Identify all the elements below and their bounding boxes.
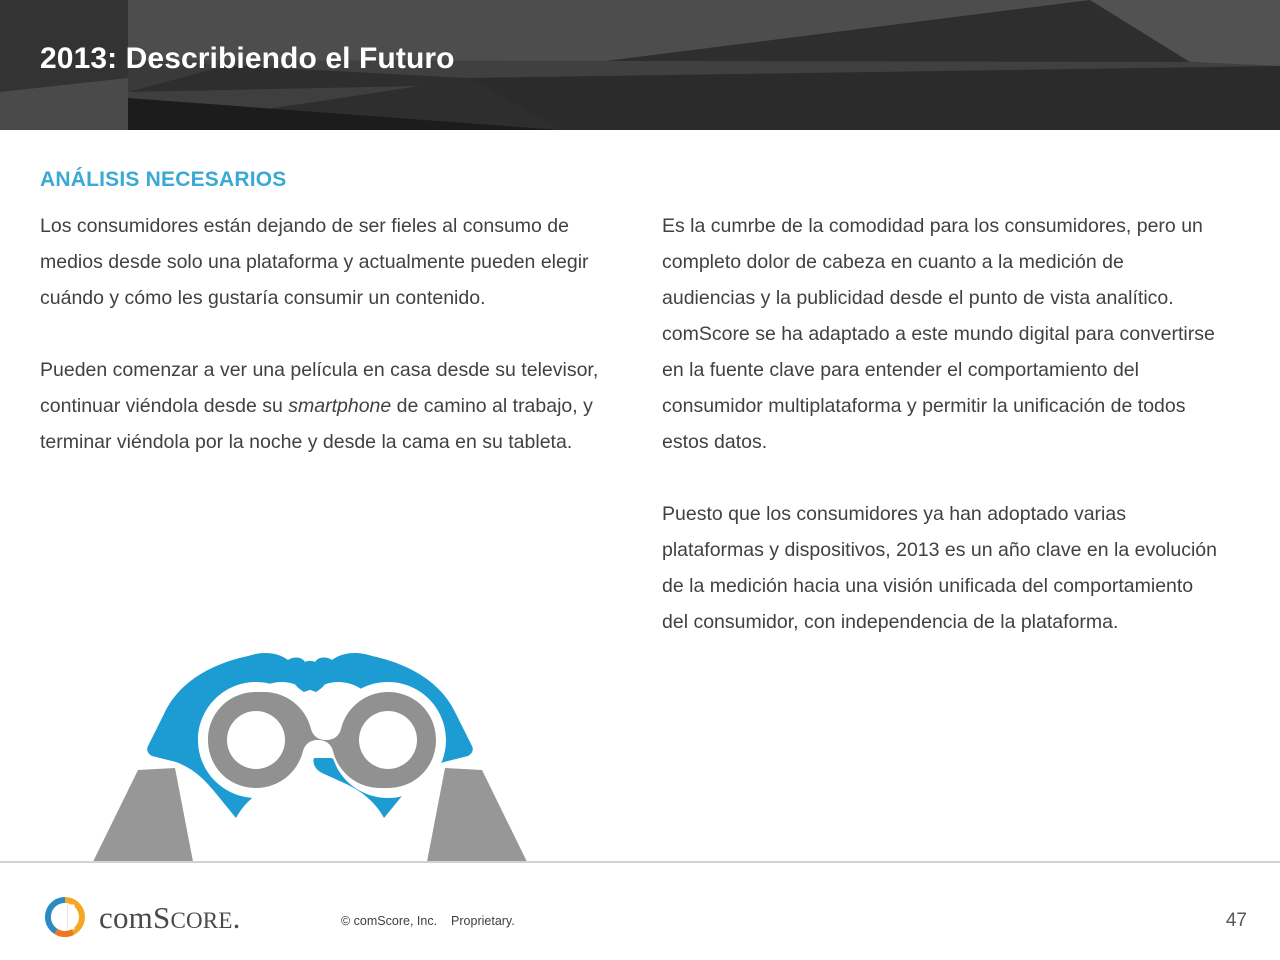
slide-footer: comSCORE. xyxy=(0,863,1280,960)
slide-content: ANÁLISIS NECESARIOS Los consumidores est… xyxy=(0,130,1280,862)
right-paragraph-1: Es la cumrbe de la comodidad para los co… xyxy=(662,208,1222,460)
comscore-logo: comSCORE. xyxy=(44,896,241,938)
logo-word-dot: . xyxy=(233,900,241,935)
proprietary-text: Proprietary. xyxy=(451,914,515,928)
logo-word-core: CORE xyxy=(170,908,232,933)
page-title: 2013: Describiendo el Futuro xyxy=(40,42,455,76)
left-sleeve-icon xyxy=(88,768,195,862)
hands-holding-binoculars-illustration xyxy=(80,640,540,862)
binoculars-icon xyxy=(198,682,446,798)
footer-copyright-note: © comScore, Inc.Proprietary. xyxy=(341,914,515,928)
slide-header: 2013: Describiendo el Futuro xyxy=(0,0,1280,130)
slide: 2013: Describiendo el Futuro ANÁLISIS NE… xyxy=(0,0,1280,960)
left-paragraph-2-emphasis: smartphone xyxy=(288,395,391,417)
left-paragraph-2: Pueden comenzar a ver una película en ca… xyxy=(40,352,600,460)
logo-word-com: com xyxy=(99,900,153,935)
right-paragraph-2: Puesto que los consumidores ya han adopt… xyxy=(662,496,1222,640)
right-sleeve-icon xyxy=(425,768,532,862)
comscore-logo-mark-icon xyxy=(44,896,86,938)
binoculars-graphic xyxy=(80,640,540,862)
copyright-text: © comScore, Inc. xyxy=(341,914,437,928)
logo-word-s: S xyxy=(153,900,170,935)
comscore-wordmark: comSCORE. xyxy=(99,902,241,933)
right-lens xyxy=(359,711,417,769)
left-text-column: Los consumidores están dejando de ser fi… xyxy=(40,208,600,460)
left-lens xyxy=(227,711,285,769)
section-heading: ANÁLISIS NECESARIOS xyxy=(40,168,287,192)
page-number: 47 xyxy=(1226,910,1247,932)
left-paragraph-1: Los consumidores están dejando de ser fi… xyxy=(40,208,600,316)
right-text-column: Es la cumrbe de la comodidad para los co… xyxy=(662,208,1222,640)
